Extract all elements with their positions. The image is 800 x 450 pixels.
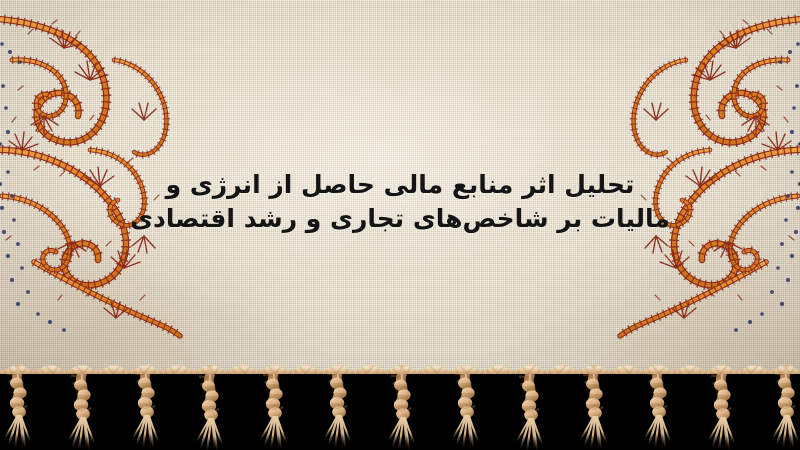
knotted-tassel-fringe xyxy=(0,374,800,450)
title-card: تحلیل اثر منابع مالی حاصل از انرژی و مال… xyxy=(0,0,800,450)
title-line-2: مالیات بر شاخص‌های تجاری و رشد اقتصادی xyxy=(0,202,800,236)
fringe-zone xyxy=(0,374,800,450)
title-line-1: تحلیل اثر منابع مالی حاصل از انرژی و xyxy=(0,168,800,202)
card-title: تحلیل اثر منابع مالی حاصل از انرژی و مال… xyxy=(0,168,800,236)
